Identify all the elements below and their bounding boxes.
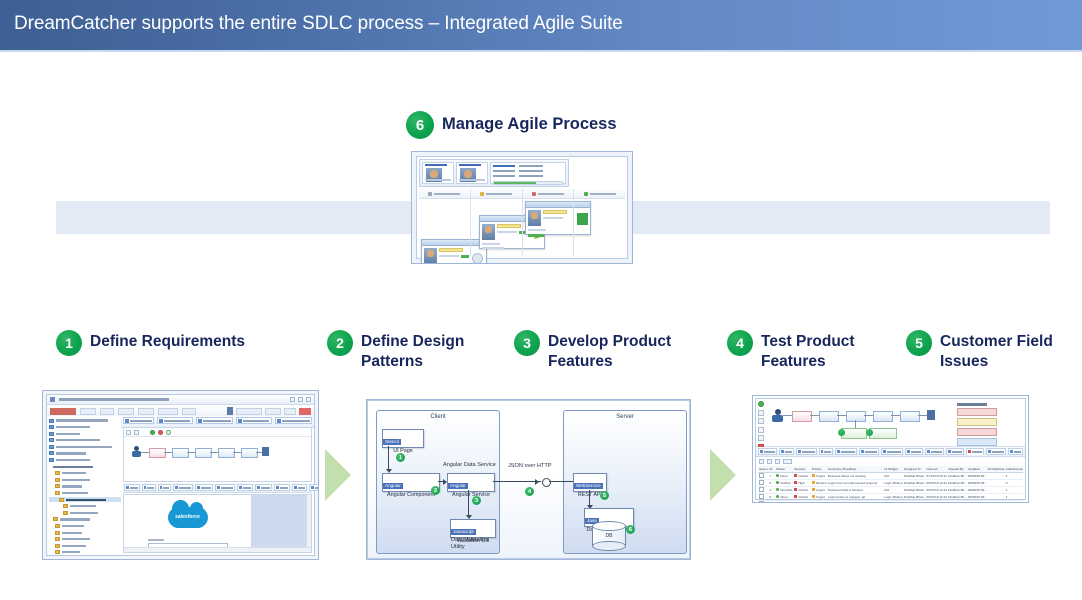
tab-label [261, 487, 270, 489]
defects-table[interactable]: Select ID Status Severity Priority Summa… [758, 466, 1023, 497]
tree-item-selected[interactable] [49, 497, 122, 502]
flow-tool-remove-icon[interactable] [158, 430, 163, 435]
close-icon[interactable] [306, 397, 311, 402]
column-title [486, 193, 512, 195]
tab-icon [837, 450, 840, 453]
node-stereotype: Angular [383, 483, 403, 489]
tab-estimates[interactable] [237, 484, 253, 491]
flow-connector [187, 452, 195, 453]
face-icon [531, 212, 538, 219]
cell-opened-by: Dinidhar Bh... [947, 487, 967, 493]
node-name: Angular Service [448, 492, 494, 499]
card-title-bar [459, 164, 481, 166]
step-badge-5: 5 [906, 330, 932, 356]
horizontal-scrollbar[interactable] [124, 547, 311, 552]
tab-label [841, 451, 855, 453]
member-card-1 [422, 162, 454, 184]
tree-label [62, 492, 88, 494]
cell-summary: Password field is blocked [827, 487, 883, 493]
field-highlight [497, 224, 521, 228]
spacer [142, 430, 147, 435]
cell-status: Open [775, 473, 793, 479]
step-label-test-product-features: 4 Test Product Features [727, 330, 855, 372]
tab-icon [907, 450, 910, 453]
cell-status: Verified [775, 480, 793, 486]
cell-opened: 06/27/18 12:44... [925, 487, 947, 493]
tree-label [56, 452, 86, 454]
tab-icon [144, 486, 146, 489]
toolbar-preview-button[interactable] [158, 408, 178, 415]
tab-label [282, 420, 310, 422]
screenshot-test-product-features[interactable]: Select ID Status Severity Priority Summa… [752, 395, 1029, 503]
username-label [148, 539, 164, 541]
node-stereotype: WebService [574, 483, 603, 489]
cell-priority: Urgent [811, 501, 827, 503]
tree-label [70, 512, 98, 514]
tree-item[interactable] [49, 477, 122, 482]
connector-4a [493, 481, 541, 482]
tab-test-user-story[interactable] [236, 417, 271, 424]
tab-label [147, 487, 154, 489]
step-title-4: Test Product Features [761, 330, 855, 372]
tab-label [952, 451, 962, 453]
cell-id: 6 [768, 494, 775, 500]
tree-item[interactable] [49, 451, 122, 456]
tree-label [62, 472, 86, 474]
status-dot-icon [584, 192, 588, 196]
tab-ui-fields[interactable] [779, 448, 794, 455]
database-label: DB [592, 533, 626, 539]
toolbar-new-button[interactable] [80, 408, 96, 415]
flow-node-5[interactable] [241, 448, 258, 458]
tree-item[interactable] [49, 418, 122, 423]
kanban-column-in-progress[interactable] [470, 189, 522, 256]
tree-label [62, 525, 84, 527]
step-label-define-requirements: 1 Define Requirements [56, 330, 245, 356]
toolbar-edit-button[interactable] [100, 408, 114, 415]
tab-icon [160, 486, 162, 489]
col-updated: Updated [967, 466, 987, 472]
step-title-3: Develop Product Features [548, 330, 671, 372]
tab-icon [175, 486, 178, 489]
tree-item[interactable] [49, 425, 122, 430]
legend-item-high [957, 418, 997, 426]
node-angular-service[interactable]: Angular Angular Service [447, 473, 495, 492]
salesforce-login-page: salesforce [124, 495, 251, 552]
folder-icon [55, 491, 60, 495]
flow-arrow-2 [710, 449, 736, 501]
flow-connector [918, 415, 927, 416]
tab-user-cards[interactable] [255, 484, 272, 491]
kanban-column-not-started[interactable] [419, 189, 470, 256]
actor-icon [132, 446, 141, 457]
flow-tool-add-icon[interactable] [150, 430, 155, 435]
tab-label [887, 451, 901, 453]
col-widget: UI Widget [883, 466, 903, 472]
tab-estimates[interactable] [905, 448, 923, 455]
avatar [528, 210, 541, 226]
tab-defects[interactable] [292, 484, 307, 491]
folder-icon [53, 517, 58, 521]
cell-opened: 04/16/18 10:14... [925, 501, 947, 503]
value [519, 175, 543, 177]
tree-item[interactable] [49, 517, 122, 522]
kanban-column-accepted[interactable] [573, 189, 625, 256]
tab-label [992, 451, 1004, 453]
label [493, 170, 515, 172]
tab-label [130, 487, 138, 489]
cylinder-bottom [592, 541, 626, 551]
tab-icon [927, 450, 930, 453]
tree-item[interactable] [49, 431, 122, 436]
col-fix: Fix Replicas... [987, 466, 1005, 472]
tab-label [179, 487, 191, 489]
tree-label [60, 518, 90, 520]
tab-design[interactable] [158, 484, 171, 491]
flow-tool-select-icon[interactable] [126, 430, 131, 435]
export-defects-icon[interactable] [783, 459, 792, 464]
zone-title-server: Server [564, 414, 686, 420]
cell-assigned: Unassigned [903, 501, 926, 503]
offline-button[interactable] [265, 408, 281, 415]
tree-label [62, 545, 86, 547]
tab-icon [159, 419, 163, 423]
defects-toolbar[interactable] [756, 457, 1025, 465]
zone-title-client: Client [377, 414, 499, 420]
cell-widget: N/A [883, 473, 903, 479]
tree-item[interactable] [49, 444, 122, 449]
tab-user-cards[interactable] [925, 448, 944, 455]
tab-attachments[interactable] [215, 484, 235, 491]
kanban-header-panel [419, 159, 569, 187]
step-badge-4: 4 [727, 330, 753, 356]
folder-icon [55, 550, 60, 554]
column-header [471, 189, 522, 199]
tab-requirements[interactable] [796, 448, 817, 455]
vertical-scrollbar[interactable] [306, 495, 311, 552]
card-text [482, 243, 500, 245]
cell-id: 3 [768, 501, 775, 503]
step-title-6: Manage Agile Process [442, 111, 617, 134]
tree-label [62, 551, 80, 553]
legend-title [957, 403, 987, 406]
tab-label [163, 487, 169, 489]
node-name: Angular Component [383, 492, 439, 499]
toolbar-user-area[interactable] [227, 407, 311, 415]
tree-item[interactable] [49, 438, 122, 443]
flow-tool-pan-icon[interactable] [758, 418, 764, 424]
header-underline [0, 50, 1082, 52]
flow-node-2[interactable] [172, 448, 189, 458]
app-icon [50, 397, 55, 402]
user-name-button[interactable] [236, 408, 262, 415]
kanban-columns [419, 189, 625, 256]
flow-tool-link-icon[interactable] [758, 435, 764, 441]
cell-summary: Login rule not implemented properly [827, 480, 883, 486]
flow-node-login-page[interactable] [792, 411, 812, 422]
tree-item[interactable] [49, 458, 122, 463]
tab-business-rules[interactable] [173, 484, 193, 491]
tree-label [56, 446, 112, 448]
tab-salesforce[interactable] [123, 417, 154, 424]
edit-defect-icon[interactable] [767, 459, 772, 464]
legend-item-low [957, 438, 997, 446]
cell-id: 5 [768, 480, 775, 486]
connector-1 [388, 446, 389, 470]
screenshot-define-design-patterns[interactable]: Client Server Stencil UI Page 1 Angular … [366, 399, 691, 560]
detail-tabs[interactable] [123, 483, 312, 493]
toolbar-print-button[interactable] [182, 408, 196, 415]
story-flow-canvas[interactable] [123, 427, 312, 482]
flow-node-3[interactable] [195, 448, 212, 458]
salesforce-preview[interactable]: salesforce [123, 494, 312, 553]
cell-summary: Username field does not work [827, 501, 883, 503]
tab-icon [1010, 450, 1013, 453]
flow-arrow-1 [325, 449, 351, 501]
tree-item[interactable] [49, 504, 122, 509]
defects-window: Select ID Status Severity Priority Summa… [755, 398, 1026, 500]
flow-connector [164, 452, 172, 453]
tree-label [66, 499, 106, 501]
label [493, 165, 515, 167]
cell-priority: Urgent [811, 494, 827, 500]
tree-item[interactable] [49, 484, 122, 489]
face-icon [427, 250, 434, 257]
tab-integrations[interactable] [859, 448, 879, 455]
flow-node-2[interactable] [819, 411, 839, 422]
node-validation-util[interactable]: Javascript Validation Util [450, 519, 496, 538]
table-row[interactable]: 6 Open Critical Urgent Login button is m… [758, 494, 1023, 501]
marker-icon [866, 429, 873, 436]
node-stereotype: Javascript [451, 529, 476, 535]
tab-icon [948, 450, 951, 453]
tab-integrations[interactable] [195, 484, 213, 491]
tab-icon [197, 486, 200, 489]
cell-severity: Critical [793, 487, 811, 493]
flow-node-document-rule[interactable] [869, 428, 897, 439]
tab-label [785, 451, 793, 453]
window-title [59, 398, 169, 401]
tab-label [802, 451, 815, 453]
col-id: ID [768, 466, 775, 472]
col-severity: Severity [793, 466, 811, 472]
tab-iterations[interactable] [946, 448, 964, 455]
tree-label [62, 479, 90, 481]
card-text [528, 229, 546, 231]
node-stereotype: Angular [448, 483, 468, 489]
flow-tool-zoom-icon[interactable] [758, 427, 764, 433]
tab-attachments[interactable] [881, 448, 903, 455]
field-highlight [543, 210, 567, 214]
status-dot-icon [532, 192, 536, 196]
sequence-marker-3: 3 [472, 496, 481, 505]
progress-bar [493, 181, 563, 185]
toolbar-delete-button[interactable] [118, 408, 134, 415]
tab-icon [294, 486, 297, 489]
minimize-icon[interactable] [290, 397, 295, 402]
tree-item[interactable] [49, 530, 122, 535]
sequence-marker-4: 4 [525, 487, 534, 496]
tab-label [315, 487, 319, 489]
column-header [523, 189, 574, 199]
folder-icon [55, 524, 60, 528]
table-row[interactable]: 5 Verified High Medium Login rule not im… [758, 480, 1023, 487]
col-priority: Priority [811, 466, 827, 472]
kanban-column-ui-review[interactable] [522, 189, 574, 256]
tab-defects[interactable] [966, 448, 984, 455]
tree-item[interactable] [49, 550, 122, 555]
col-attachments: Attachments [1005, 466, 1023, 472]
tab-icon [257, 486, 260, 489]
story-flow-panel[interactable] [756, 399, 1025, 447]
tab-icon [781, 450, 784, 453]
tab-icon [276, 486, 279, 489]
cell-fix: Local (04 - 05) [987, 501, 1005, 503]
cell-widget: Login (Button) [883, 494, 903, 500]
flow-node-5[interactable] [900, 411, 920, 422]
screenshot-define-requirements[interactable]: salesforce [42, 390, 319, 560]
tab-create-new-contact[interactable] [196, 417, 233, 424]
cell-status: Resolved [775, 501, 793, 503]
preview-side-panel [251, 495, 311, 552]
cylinder-top [592, 521, 626, 531]
tab-icon [126, 486, 129, 489]
window-titlebar [47, 395, 314, 405]
tab-history[interactable] [1008, 448, 1023, 455]
tree-label [56, 439, 100, 441]
tree-item[interactable] [49, 510, 122, 515]
legend-item-medium [957, 428, 997, 436]
tree-item[interactable] [49, 491, 122, 496]
flow-node-1[interactable] [149, 448, 166, 458]
tab-icon [238, 419, 242, 423]
tab-design[interactable] [819, 448, 833, 455]
tree-item[interactable] [49, 543, 122, 548]
flow-node-3[interactable] [846, 411, 866, 422]
annotation-json-over-http: JSON over HTTP [508, 463, 552, 469]
step-badge-2: 2 [327, 330, 353, 356]
tab-icon [798, 450, 801, 453]
column-title [590, 193, 616, 195]
cell-summary: Login button is mapped .gif [827, 494, 883, 500]
tab-documents[interactable] [986, 448, 1006, 455]
tab-icon [968, 450, 971, 453]
tab-icon [988, 450, 991, 453]
tree-item[interactable] [49, 537, 122, 542]
tree-item[interactable] [49, 524, 122, 529]
logout-button[interactable] [284, 408, 296, 415]
flow-tool-pan-icon[interactable] [134, 430, 139, 435]
folder-icon [55, 478, 60, 482]
delete-defect-icon[interactable] [775, 459, 780, 464]
tab-ui-fields[interactable] [142, 484, 156, 491]
flow-connector [233, 452, 241, 453]
detail-tabs[interactable] [756, 447, 1025, 457]
node-stereotype: Stencil [383, 439, 401, 445]
folder-icon [63, 511, 68, 515]
col-opened-by: Opened By [947, 466, 967, 472]
flow-tool-add-icon[interactable] [758, 401, 764, 407]
cell-assigned: Dinidhar Bhatt... [903, 494, 926, 500]
add-defect-icon[interactable] [759, 459, 764, 464]
folder-icon [49, 419, 54, 423]
maximize-icon[interactable] [298, 397, 303, 402]
table-row[interactable]: 7 Open Critical Urgent Business Rules no… [758, 473, 1023, 480]
project-tree[interactable] [47, 416, 123, 555]
folder-icon [55, 484, 60, 488]
tree-item[interactable] [49, 471, 122, 476]
cell-opened-by: Dinidhar Bh... [947, 473, 967, 479]
flow-tool-circle-icon[interactable] [166, 430, 171, 435]
tab-user-interface[interactable] [758, 448, 777, 455]
tab-iterations[interactable] [274, 484, 290, 491]
tab-icon [821, 450, 823, 453]
alert-badge[interactable] [299, 408, 311, 415]
tree-item[interactable] [49, 464, 122, 469]
card-text [459, 179, 485, 181]
flow-node-4[interactable] [873, 411, 893, 422]
card-text [439, 255, 459, 257]
cell-severity: Critical [793, 494, 811, 500]
window-controls[interactable] [290, 397, 311, 402]
column-title [434, 193, 460, 195]
face-icon [464, 170, 472, 178]
face-icon [430, 170, 438, 178]
flow-node-business-rule[interactable] [841, 428, 867, 439]
table-row[interactable]: 3 Resolved Critical Urgent Username fiel… [758, 501, 1023, 503]
tab-label [130, 420, 152, 422]
tab-icon [277, 419, 281, 423]
tab-label [764, 451, 775, 453]
node-rest-api[interactable]: WebService REST API [573, 473, 607, 492]
flow-toolbar[interactable] [124, 428, 311, 437]
flow-tool-select-icon[interactable] [758, 410, 764, 416]
tab-icon [861, 450, 864, 453]
tab-create-account[interactable] [157, 417, 192, 424]
tab-icon [311, 486, 314, 489]
tab-ux[interactable] [124, 484, 140, 491]
tab-create-new-story[interactable] [275, 417, 312, 424]
table-header-row: Select ID Status Severity Priority Summa… [758, 466, 1023, 473]
flow-side-toolbar[interactable] [758, 401, 765, 452]
cell-id: 4 [768, 487, 775, 493]
tab-label [203, 420, 231, 422]
cell-priority: Urgent [811, 487, 827, 493]
avatar [482, 224, 495, 240]
ide-window: salesforce [46, 394, 315, 556]
cell-opened: 06/27/18 12:44... [925, 480, 947, 486]
toolbar-search-button[interactable] [138, 408, 154, 415]
folder-icon [63, 504, 68, 508]
cell-status: Open/Re... [775, 487, 793, 493]
sequence-marker-1: 1 [396, 453, 405, 462]
node-database[interactable]: DB [592, 521, 626, 551]
arrowhead [535, 479, 539, 485]
salesforce-logo: salesforce [168, 507, 208, 528]
tree-label [70, 505, 96, 507]
tab-business-rules[interactable] [835, 448, 857, 455]
flow-node-4[interactable] [218, 448, 235, 458]
col-status: Status [775, 466, 793, 472]
screenshot-manage-agile-process[interactable] [411, 151, 633, 264]
tab-documents[interactable] [309, 484, 319, 491]
table-row[interactable]: 4 Open/Re... Critical Urgent Password fi… [758, 487, 1023, 494]
cell-assigned: Dinidhar Bhatt... [903, 473, 926, 479]
open-defects-legend [957, 403, 997, 448]
actor-icon [772, 409, 783, 422]
cell-priority: Urgent [811, 473, 827, 479]
cell-updated: 08/08/18 09:... [967, 473, 987, 479]
